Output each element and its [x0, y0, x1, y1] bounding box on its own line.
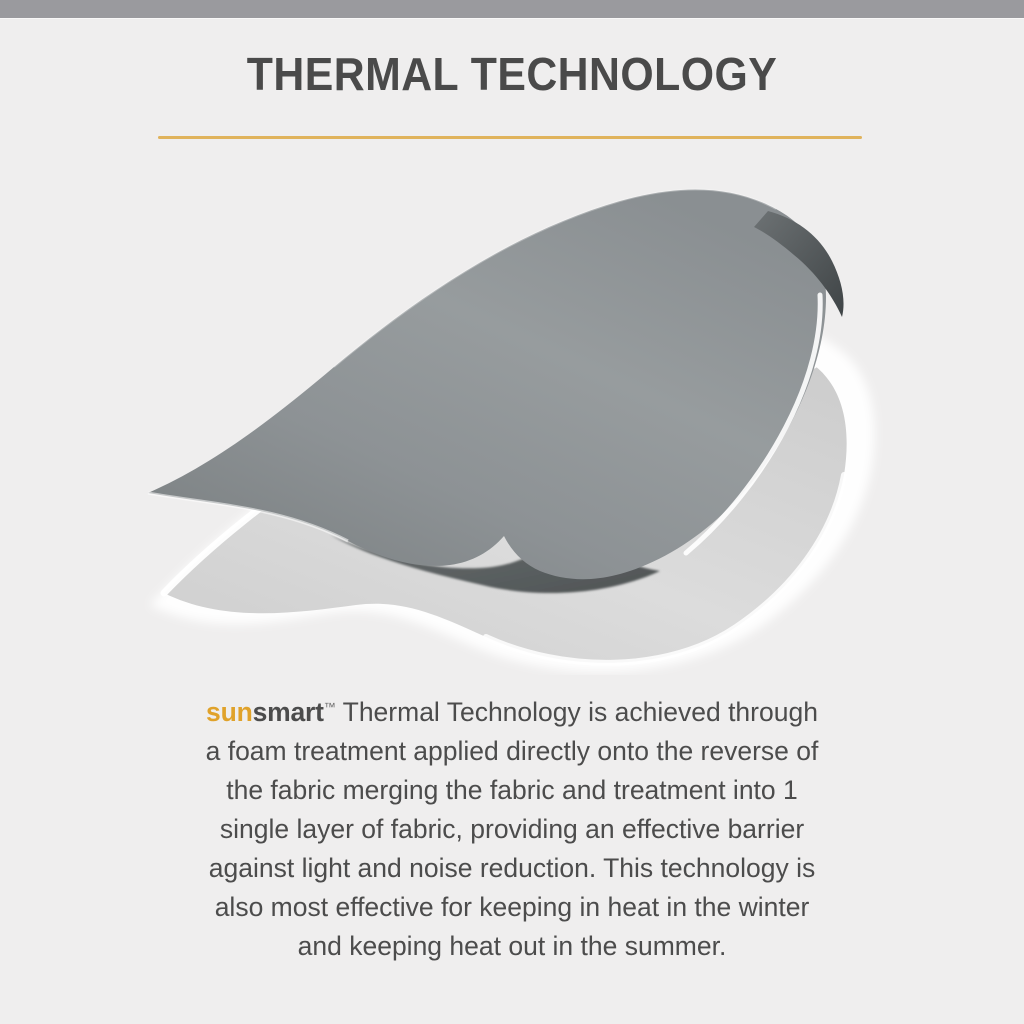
description-line-6: also most effective for keeping in heat …: [140, 888, 884, 927]
description-paragraph: sunsmart™ Thermal Technology is achieved…: [140, 688, 884, 966]
top-band: [0, 0, 1024, 18]
description-line-3: the fabric merging the fabric and treatm…: [140, 771, 884, 810]
description-line-1-text: Thermal Technology is achieved through: [336, 697, 818, 727]
fabric-illustration: [120, 175, 910, 675]
description-line-2: a foam treatment applied directly onto t…: [140, 732, 884, 771]
description-line-1: sunsmart™ Thermal Technology is achieved…: [140, 688, 884, 732]
description-line-4: single layer of fabric, providing an eff…: [140, 810, 884, 849]
description-line-7: and keeping heat out in the summer.: [140, 927, 884, 966]
title-divider: [158, 136, 862, 139]
page-title: THERMAL TECHNOLOGY: [36, 46, 988, 102]
brand-smart: smart: [253, 697, 324, 727]
header: THERMAL TECHNOLOGY: [0, 18, 1024, 128]
description-line-5: against light and noise reduction. This …: [140, 849, 884, 888]
brand-sun: sun: [206, 697, 253, 727]
trademark-symbol: ™: [324, 700, 336, 714]
